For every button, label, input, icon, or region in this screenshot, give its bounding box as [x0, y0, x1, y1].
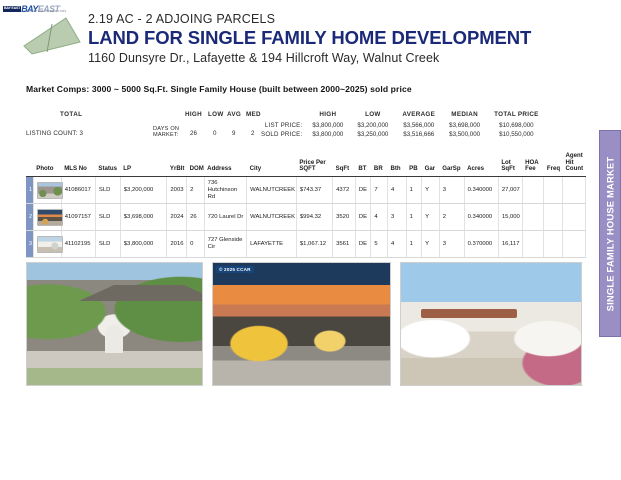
slide-page: BAY EAST BAY EAST ASSOCIATION OF REALTOR… — [0, 0, 621, 480]
sold-price-total: $10,550,000 — [487, 130, 546, 139]
dom-label-line2: MARKET: — [153, 132, 179, 138]
cell-agent-hit-count — [563, 177, 586, 204]
cell-garsp: 3 — [439, 177, 464, 204]
summary-total-label: TOTAL — [60, 111, 82, 118]
cell-city: WALNUTCREEK — [247, 204, 297, 231]
sidebar-label: SINGLE FAMILY HOUSE MARKET — [605, 156, 616, 311]
cell-bt: DE — [355, 177, 371, 204]
th-agent-hit-count[interactable]: Agent Hit Count — [563, 150, 586, 177]
th-lp[interactable]: LP — [120, 150, 167, 177]
dom-value-avg: 9 — [232, 130, 235, 137]
cell-sqft: 3520 — [333, 204, 356, 231]
cell-hoa-fee — [522, 204, 544, 231]
th-acres[interactable]: Acres — [464, 150, 498, 177]
cell-br: 5 — [371, 231, 388, 258]
table-row[interactable]: 2 41097157 SLD $3,698,000 2024 26 720 La… — [26, 204, 586, 231]
cell-sqft: 3561 — [333, 231, 356, 258]
price-header-average: AVERAGE — [395, 106, 442, 121]
cell-status: SLD — [95, 204, 120, 231]
cell-lp: $3,200,000 — [120, 177, 167, 204]
price-summary-header-row: HIGH LOW AVERAGE MEDIAN TOTAL PRICE — [254, 106, 546, 121]
price-header-total: TOTAL PRICE — [487, 106, 546, 121]
cell-address: 727 Glenside Cir — [204, 231, 246, 258]
row-thumbnail-cell[interactable] — [33, 177, 61, 204]
logo-subtitle: ASSOCIATION OF REALTORS — [22, 10, 67, 13]
listing-count: LISTING COUNT: 3 — [26, 130, 83, 137]
header-block: 2.19 AC - 2 ADJOING PARCELS LAND FOR SIN… — [88, 12, 531, 65]
list-price-high: $3,800,000 — [305, 121, 350, 130]
white-mediterranean-house-photo[interactable] — [400, 262, 582, 386]
bay-east-logo: BAY EAST BAY EAST — [3, 2, 83, 16]
th-address[interactable]: Address — [204, 150, 246, 177]
cell-gar: Y — [422, 204, 440, 231]
list-price-label: LIST PRICE: — [254, 121, 305, 130]
row-thumbnail-cell[interactable] — [33, 204, 61, 231]
table-row[interactable]: 1 41086017 SLD $3,200,000 2003 2 736 Hut… — [26, 177, 586, 204]
header-title: LAND FOR SINGLE FAMILY HOME DEVELOPMENT — [88, 27, 531, 49]
logo-badge-text: BAY EAST — [3, 6, 21, 12]
cell-pb: 1 — [406, 177, 422, 204]
days-on-market-label: DAYS ON MARKET: — [153, 126, 179, 139]
th-pb[interactable]: PB — [406, 150, 422, 177]
cell-gar: Y — [422, 177, 440, 204]
market-comps-title: Market Comps: 3000 ~ 5000 Sq.Ft. Single … — [26, 84, 412, 94]
cell-bth: 4 — [387, 231, 406, 258]
th-br[interactable]: BR — [371, 150, 388, 177]
gray-colonial-house-photo[interactable] — [26, 262, 203, 386]
th-garsp[interactable]: GarSp — [439, 150, 464, 177]
listings-table-wrap: Photo MLS No Status LP YrBlt DOM Address… — [26, 150, 586, 258]
sidebar-single-family-house-market[interactable]: SINGLE FAMILY HOUSE MARKET — [599, 130, 621, 337]
row-number: 2 — [26, 204, 33, 231]
dom-header-high: HIGH — [185, 111, 202, 118]
price-header-median: MEDIAN — [442, 106, 487, 121]
parcel-map-shape — [22, 16, 84, 60]
cell-dom: 26 — [187, 204, 205, 231]
cell-acres: 0.340000 — [464, 204, 498, 231]
sold-price-label: SOLD PRICE: — [254, 130, 305, 139]
cell-yrblt: 2016 — [167, 231, 187, 258]
cell-yrblt: 2003 — [167, 177, 187, 204]
cell-bt: DE — [355, 231, 371, 258]
cell-dom: 2 — [187, 177, 205, 204]
cell-lot-sqft: 15,000 — [498, 204, 522, 231]
cell-garsp: 2 — [439, 204, 464, 231]
cell-br: 4 — [371, 204, 388, 231]
cell-price-per-sqft: $1,067.12 — [296, 231, 332, 258]
list-price-median: $3,698,000 — [442, 121, 487, 130]
th-mls-no[interactable]: MLS No — [61, 150, 95, 177]
cell-agent-hit-count — [563, 204, 586, 231]
row-number: 1 — [26, 177, 33, 204]
listing-thumbnail-icon[interactable] — [37, 209, 63, 226]
dom-header-low: LOW — [208, 111, 224, 118]
list-price-total: $10,698,000 — [487, 121, 546, 130]
list-price-average: $3,566,000 — [395, 121, 442, 130]
table-header-row: Photo MLS No Status LP YrBlt DOM Address… — [26, 150, 586, 177]
property-photo-gallery: © 2025 CCAR — [26, 262, 586, 384]
cell-garsp: 3 — [439, 231, 464, 258]
cell-status: SLD — [95, 231, 120, 258]
cell-bth: 3 — [387, 204, 406, 231]
cell-mls-no: 41097157 — [61, 204, 95, 231]
cell-freq — [544, 231, 563, 258]
cell-mls-no: 41102195 — [61, 231, 95, 258]
front-door-shape — [105, 325, 123, 353]
th-lot-sqft[interactable]: Lot SqFt — [498, 150, 522, 177]
header-eyebrow: 2.19 AC - 2 ADJOING PARCELS — [88, 12, 531, 26]
cell-hoa-fee — [522, 231, 544, 258]
cell-gar: Y — [422, 231, 440, 258]
price-header-low: LOW — [350, 106, 395, 121]
list-price-low: $3,200,000 — [350, 121, 395, 130]
dom-value-low: 0 — [213, 130, 216, 137]
cell-hoa-fee — [522, 177, 544, 204]
listing-thumbnail-icon[interactable] — [37, 236, 63, 253]
cell-bt: DE — [355, 204, 371, 231]
cell-status: SLD — [95, 177, 120, 204]
cell-mls-no: 41086017 — [61, 177, 95, 204]
cell-lot-sqft: 27,007 — [498, 177, 522, 204]
cell-pb: 1 — [406, 231, 422, 258]
cell-agent-hit-count — [563, 231, 586, 258]
cell-freq — [544, 177, 563, 204]
cell-acres: 0.370000 — [464, 231, 498, 258]
cell-br: 7 — [371, 177, 388, 204]
tile-roof-shape — [421, 309, 517, 318]
sold-price-low: $3,250,000 — [350, 130, 395, 139]
dom-value-high: 26 — [190, 130, 197, 137]
th-gar[interactable]: Gar — [422, 150, 440, 177]
cell-lp: $3,698,000 — [120, 204, 167, 231]
price-summary-corner — [254, 106, 305, 121]
th-bt[interactable]: BT — [355, 150, 371, 177]
listing-thumbnail-icon[interactable] — [37, 182, 63, 199]
sold-price-median: $3,500,000 — [442, 130, 487, 139]
modern-house-sunset-photo[interactable]: © 2025 CCAR — [212, 262, 391, 386]
cell-acres: 0.340000 — [464, 177, 498, 204]
dom-header-avg: AVG — [227, 111, 241, 118]
cell-pb: 1 — [406, 204, 422, 231]
cell-bth: 4 — [387, 177, 406, 204]
th-hoa-fee[interactable]: HOA Fee — [522, 150, 544, 177]
th-freq[interactable]: Freq — [544, 150, 563, 177]
th-bth[interactable]: Bth — [387, 150, 406, 177]
cell-dom: 0 — [187, 231, 205, 258]
cell-lot-sqft: 16,117 — [498, 231, 522, 258]
th-dom[interactable]: DOM — [187, 150, 205, 177]
cell-sqft: 4372 — [333, 177, 356, 204]
summary-stats: TOTAL LISTING COUNT: 3 DAYS ON MARKET: H… — [26, 106, 586, 148]
th-price-per-sqft[interactable]: Price Per SQFT — [296, 150, 332, 177]
cell-lp: $3,800,000 — [120, 231, 167, 258]
row-thumbnail-cell[interactable] — [33, 231, 61, 258]
th-yrblt[interactable]: YrBlt — [167, 150, 187, 177]
price-summary-table: HIGH LOW AVERAGE MEDIAN TOTAL PRICE LIST… — [254, 106, 546, 139]
cell-address: 720 Laurel Dr — [204, 204, 246, 231]
cell-price-per-sqft: $743.37 — [296, 177, 332, 204]
sold-price-high: $3,800,000 — [305, 130, 350, 139]
cell-freq — [544, 204, 563, 231]
th-status[interactable]: Status — [95, 150, 120, 177]
list-price-row: LIST PRICE: $3,800,000 $3,200,000 $3,566… — [254, 121, 546, 130]
ccar-watermark: © 2025 CCAR — [216, 266, 254, 273]
th-photo[interactable]: Photo — [33, 150, 61, 177]
cell-yrblt: 2024 — [167, 204, 187, 231]
row-number: 3 — [26, 231, 33, 258]
listings-table: Photo MLS No Status LP YrBlt DOM Address… — [26, 150, 586, 258]
cell-city: WALNUTCREEK — [247, 177, 297, 204]
th-rownum — [26, 150, 33, 177]
sold-price-average: $3,516,666 — [395, 130, 442, 139]
cell-address: 736 Hutchinson Rd — [204, 177, 246, 204]
header-address: 1160 Dunsyre Dr., Lafayette & 194 Hillcr… — [88, 51, 531, 65]
th-sqft[interactable]: SqFt — [333, 150, 356, 177]
sold-price-row: SOLD PRICE: $3,800,000 $3,250,000 $3,516… — [254, 130, 546, 139]
table-row[interactable]: 3 41102195 SLD $3,800,000 2016 0 727 Gle… — [26, 231, 586, 258]
th-city[interactable]: City — [247, 150, 297, 177]
cell-price-per-sqft: $994.32 — [296, 204, 332, 231]
roof-gable-shape — [79, 285, 203, 301]
price-header-high: HIGH — [305, 106, 350, 121]
cell-city: LAFAYETTE — [247, 231, 297, 258]
